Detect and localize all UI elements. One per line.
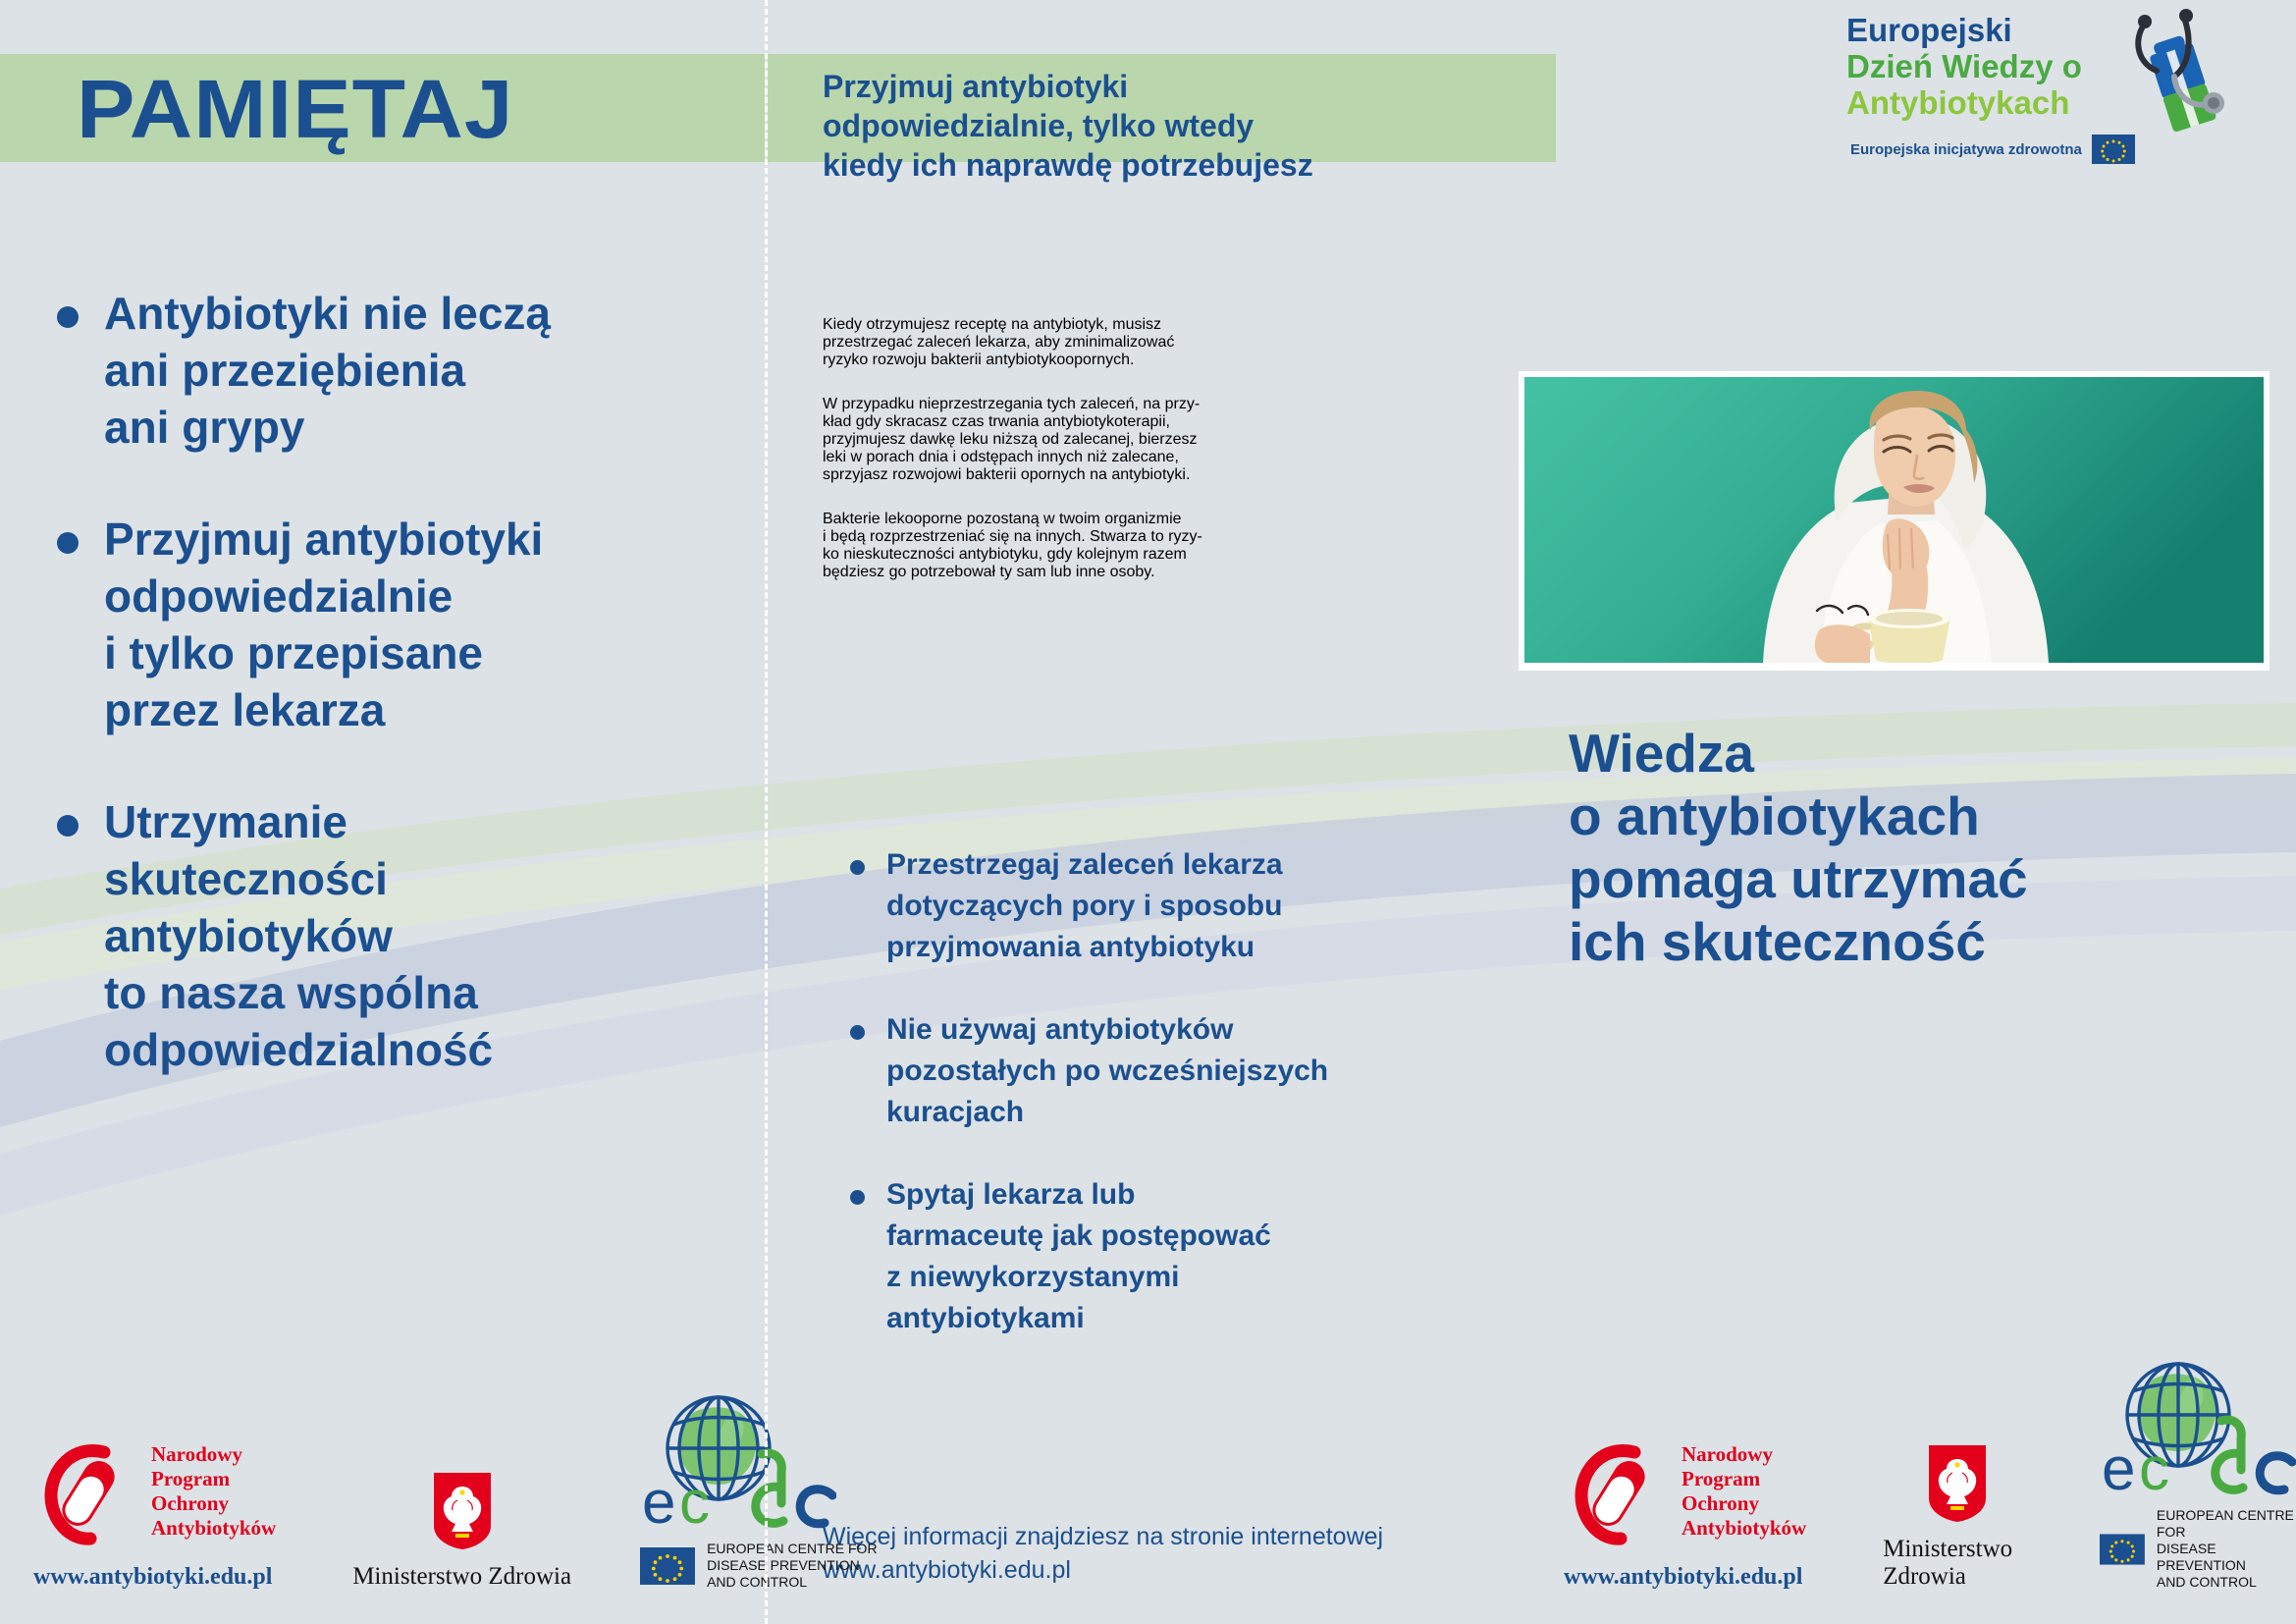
eu-flag-icon (640, 1547, 695, 1585)
bullet-line: przez lekarza (104, 681, 543, 738)
eaad-tagline: Europejska inicjatywa zdrowotna (1850, 141, 2082, 158)
npoa-line: Antybiotyków (1682, 1516, 1806, 1541)
bullet-line: Przestrzegaj zaleceń lekarza (886, 844, 1283, 886)
stethoscope-bag-icon (2102, 6, 2249, 153)
eaad-logo: Europejski Dzień Wiedzy o Antybiotykach … (1835, 12, 2257, 164)
list-item: Antybiotyki nie leczą ani przeziębienia … (57, 285, 744, 456)
photo-illustration (1524, 377, 2264, 663)
list-item: Utrzymanie skuteczności antybiotyków to … (57, 793, 744, 1078)
polish-eagle-coat-of-arms-icon (432, 1471, 493, 1551)
footer-left: Narodowy Program Ochrony Antybiotyków ww… (33, 1393, 878, 1591)
bullet-dot-icon (57, 306, 79, 328)
bullet-dot-icon (57, 532, 79, 554)
bullet-line: to nasza wspólna (104, 964, 493, 1021)
photo-frame (1519, 371, 2269, 671)
headline-line: ich skuteczność (1569, 910, 2028, 973)
headline-line: pomaga utrzymać (1569, 847, 2028, 910)
bullet-line: kuracjach (886, 1092, 1328, 1133)
bullet-dot-icon (57, 815, 79, 837)
npoa-line: Antybiotyków (151, 1516, 276, 1541)
ecdc-eu-line: AND CONTROL (707, 1574, 877, 1591)
bullet-line: przyjmowania antybiotyku (886, 927, 1283, 968)
paragraph-line: W przypadku nieprzestrzegania tych zalec… (823, 396, 1510, 413)
npoa-line: Ochrony (1682, 1491, 1806, 1516)
svg-text:e: e (642, 1469, 675, 1537)
bullet-dot-icon (850, 1025, 865, 1040)
left-bullet-list: Antybiotyki nie leczą ani przeziębienia … (57, 285, 744, 1133)
more-info-note: Więcej informacji znajdziesz na stronie … (823, 1520, 1383, 1587)
headline-line: Wiedza (1569, 722, 2028, 785)
paragraph-line: kład gdy skracasz czas trwania antybioty… (823, 413, 1510, 431)
polish-eagle-coat-of-arms-icon (1927, 1443, 1988, 1524)
bullet-dot-icon (850, 860, 865, 875)
ecdc-globe-wordmark-icon: e c (2100, 1360, 2296, 1503)
npoa-line: Program (151, 1467, 276, 1491)
bullet-line: Nie używaj antybiotyków (886, 1009, 1328, 1051)
bullet-line: antybiotyków (104, 907, 493, 964)
bullet-line: Antybiotyki nie leczą (104, 285, 551, 342)
middle-bullet-list: Przestrzegaj zaleceń lekarza dotyczących… (850, 844, 1537, 1380)
npoa-line: Program (1682, 1467, 1806, 1491)
more-info-line: Więcej informacji znajdziesz na stronie … (823, 1520, 1383, 1553)
paragraph-line: sprzyjasz rozwojowi bakterii opornych na… (823, 466, 1510, 484)
paragraph-line: będziesz go potrzebował ty sam lub inne … (823, 564, 1510, 581)
ministry-logo: Ministerstwo Zdrowia (1883, 1443, 2031, 1591)
bullet-dot-icon (850, 1190, 865, 1205)
pill-capsule-icon (1564, 1436, 1674, 1546)
npoa-logo: Narodowy Program Ochrony Antybiotyków ww… (33, 1436, 276, 1591)
ecdc-logo: e c EUROPEAN CENTR (2100, 1360, 2296, 1591)
middle-header-line-1: Przyjmuj antybiotyki (823, 67, 1549, 106)
middle-body-text: Kiedy otrzymujesz receptę na antybiotyk,… (823, 290, 1510, 608)
ecdc-globe-wordmark-icon: e c (640, 1393, 836, 1537)
npoa-logo: Narodowy Program Ochrony Antybiotyków ww… (1564, 1436, 1806, 1591)
headline-line: o antybiotykach (1569, 785, 2028, 847)
ecdc-eu-line: DISEASE PREVENTION (707, 1557, 877, 1574)
bullet-line: Spytaj lekarza lub (886, 1174, 1271, 1216)
ecdc-eu-line: EUROPEAN CENTRE FOR (707, 1541, 877, 1557)
eu-flag-icon (2100, 1531, 2145, 1568)
ecdc-eu-line: DISEASE PREVENTION (2157, 1541, 2296, 1574)
bullet-line: dotyczących pory i sposobu (886, 886, 1283, 927)
npoa-url[interactable]: www.antybiotyki.edu.pl (1564, 1564, 1802, 1591)
paragraph-line: Bakterie lekooporne pozostaną w twoim or… (823, 511, 1510, 528)
middle-header-title: Przyjmuj antybiotyki odpowiedzialnie, ty… (823, 67, 1549, 185)
bullet-line: i tylko przepisane (104, 624, 543, 681)
paragraph-line: przyjmujesz dawkę leku niższą od zalecan… (823, 431, 1510, 449)
middle-header-line-2: odpowiedzialnie, tylko wtedy (823, 106, 1549, 145)
paragraph-line: leki w porach dnia i odstępach innych ni… (823, 449, 1510, 466)
npoa-line: Narodowy (1682, 1442, 1806, 1467)
bullet-line: z niewykorzystanymi (886, 1257, 1271, 1298)
paragraph-line: Kiedy otrzymujesz receptę na antybiotyk,… (823, 316, 1510, 334)
list-item: Spytaj lekarza lub farmaceutę jak postęp… (850, 1174, 1537, 1339)
ministry-label: Ministerstwo Zdrowia (1883, 1536, 2031, 1591)
list-item: Przyjmuj antybiotyki odpowiedzialnie i t… (57, 511, 744, 738)
bullet-line: farmaceutę jak postępować (886, 1216, 1271, 1257)
fold-guide-line (765, 0, 768, 1624)
bullet-line: antybiotykami (886, 1298, 1271, 1339)
ecdc-eu-line: AND CONTROL (2157, 1574, 2296, 1591)
ministry-logo: Ministerstwo Zdrowia (352, 1471, 571, 1591)
more-info-url: www.antybiotyki.edu.pl (823, 1553, 1383, 1587)
bullet-line: Utrzymanie (104, 793, 493, 850)
bullet-line: pozostałych po wcześniejszych (886, 1051, 1328, 1092)
svg-text:c: c (679, 1469, 710, 1537)
svg-text:c: c (2139, 1435, 2169, 1503)
list-item: Przestrzegaj zaleceń lekarza dotyczących… (850, 844, 1537, 968)
middle-header-line-3: kiedy ich naprawdę potrzebujesz (823, 145, 1549, 185)
ecdc-logo: e c EUROPEAN CENTR (640, 1393, 877, 1591)
bullet-line: skuteczności (104, 850, 493, 907)
right-headline: Wiedza o antybiotykach pomaga utrzymać i… (1569, 722, 2028, 973)
bullet-line: odpowiedzialnie (104, 568, 543, 624)
paragraph-line: przestrzegać zaleceń lekarza, aby zminim… (823, 334, 1510, 352)
bullet-line: ani przeziębienia (104, 342, 551, 399)
npoa-url[interactable]: www.antybiotyki.edu.pl (33, 1564, 272, 1591)
npoa-line: Narodowy (151, 1442, 276, 1467)
paragraph-line: ryzyko rozwoju bakterii antybiotykooporn… (823, 352, 1510, 369)
svg-text:e: e (2102, 1435, 2135, 1503)
page-title: PAMIĘTAJ (77, 56, 513, 162)
list-item: Nie używaj antybiotyków pozostałych po w… (850, 1009, 1537, 1133)
bullet-line: Przyjmuj antybiotyki (104, 511, 543, 568)
ecdc-eu-row: EUROPEAN CENTRE FOR DISEASE PREVENTION A… (640, 1541, 877, 1591)
paragraph-line: i będą rozprzestrzeniać się na innych. S… (823, 528, 1510, 546)
ecdc-eu-line: EUROPEAN CENTRE FOR (2157, 1507, 2296, 1541)
footer-right: Narodowy Program Ochrony Antybiotyków ww… (1564, 1360, 2296, 1591)
ministry-label: Ministerstwo Zdrowia (352, 1563, 571, 1591)
bullet-line: ani grypy (104, 399, 551, 456)
npoa-line: Ochrony (151, 1491, 276, 1516)
ecdc-eu-row: EUROPEAN CENTRE FOR DISEASE PREVENTION A… (2100, 1507, 2296, 1591)
pill-capsule-icon (33, 1436, 143, 1546)
paragraph-line: ko nieskuteczności antybiotyku, gdy kole… (823, 546, 1510, 564)
bullet-line: odpowiedzialność (104, 1021, 493, 1078)
sick-woman-photo (1524, 377, 2264, 663)
